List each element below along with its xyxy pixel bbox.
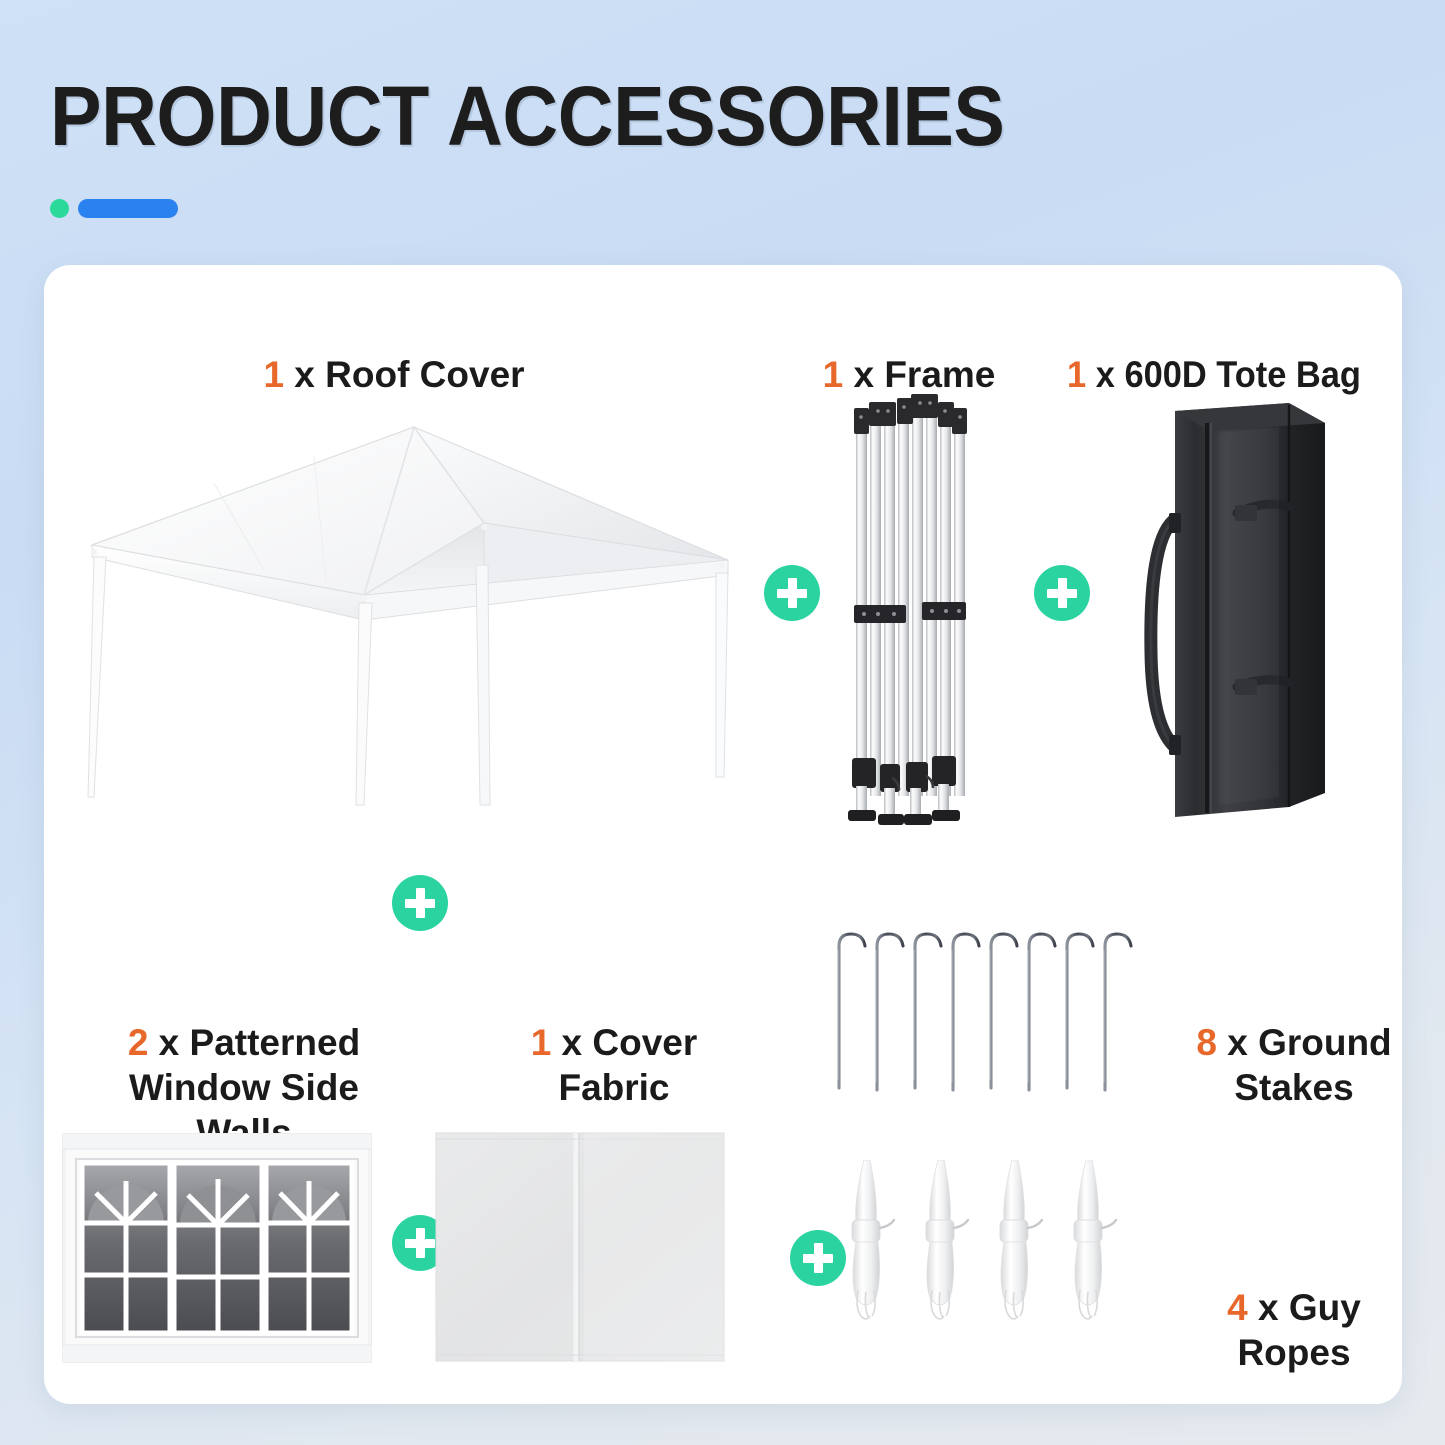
sep-frame: x xyxy=(843,354,884,395)
accent-bar-icon xyxy=(78,199,178,218)
plus-vertical-bar xyxy=(416,888,425,918)
label-side-walls: 2 x Patterned Window Side Walls xyxy=(74,975,414,1155)
qty-side-walls: 2 xyxy=(128,1022,149,1063)
accent-dot-icon xyxy=(50,199,69,218)
side-walls-image xyxy=(62,1133,372,1363)
sep-roof-cover: x xyxy=(284,354,325,395)
qty-ground-stakes: 8 xyxy=(1196,1022,1217,1063)
label-ground-stakes: 8 x Ground Stakes xyxy=(1134,975,1402,1110)
qty-tote-bag: 1 xyxy=(1067,354,1086,395)
ground-stakes-image xyxy=(829,920,1139,1100)
name-ground-stakes: Ground Stakes xyxy=(1234,1022,1391,1108)
guy-ropes-image xyxy=(834,1160,1144,1360)
qty-cover-fabric: 1 xyxy=(531,1022,552,1063)
label-roof-cover: 1 x Roof Cover xyxy=(174,307,614,397)
name-frame: Frame xyxy=(884,354,995,395)
plus-roof-sidewalls-icon xyxy=(392,875,448,931)
plus-vertical-bar xyxy=(788,578,797,608)
name-tote-bag: 600D Tote Bag xyxy=(1124,354,1360,395)
plus-vertical-bar xyxy=(416,1228,425,1258)
plus-roof-frame-icon xyxy=(764,565,820,621)
tote-bag-image xyxy=(1139,393,1359,843)
frame-image xyxy=(826,390,996,840)
qty-guy-ropes: 4 xyxy=(1227,1287,1248,1328)
roof-cover-image xyxy=(64,405,744,835)
label-guy-ropes: 4 x Guy Ropes xyxy=(1154,1240,1402,1375)
label-cover-fabric: 1 x Cover Fabric xyxy=(464,975,764,1110)
cover-fabric-image xyxy=(434,1131,726,1363)
sep-ground-stakes: x xyxy=(1217,1022,1258,1063)
plus-vertical-bar xyxy=(814,1243,823,1273)
name-roof-cover: Roof Cover xyxy=(325,354,524,395)
sep-guy-ropes: x xyxy=(1248,1287,1289,1328)
label-frame: 1 x Frame xyxy=(744,307,1074,397)
qty-roof-cover: 1 xyxy=(263,354,284,395)
page-title: PRODUCT ACCESSORIES xyxy=(50,72,1005,160)
qty-frame: 1 xyxy=(823,354,844,395)
accessories-card: 1 x Roof Cover 1 x Frame 1 x 600D Tote B… xyxy=(44,265,1402,1404)
sep-side-walls: x xyxy=(148,1022,189,1063)
plus-vertical-bar xyxy=(1058,578,1067,608)
label-tote-bag: 1 x 600D Tote Bag xyxy=(1033,307,1396,397)
sep-tote-bag: x xyxy=(1086,354,1124,395)
accent-underline xyxy=(50,199,178,218)
plus-frame-tote-icon xyxy=(1034,565,1090,621)
sep-cover-fabric: x xyxy=(551,1022,592,1063)
